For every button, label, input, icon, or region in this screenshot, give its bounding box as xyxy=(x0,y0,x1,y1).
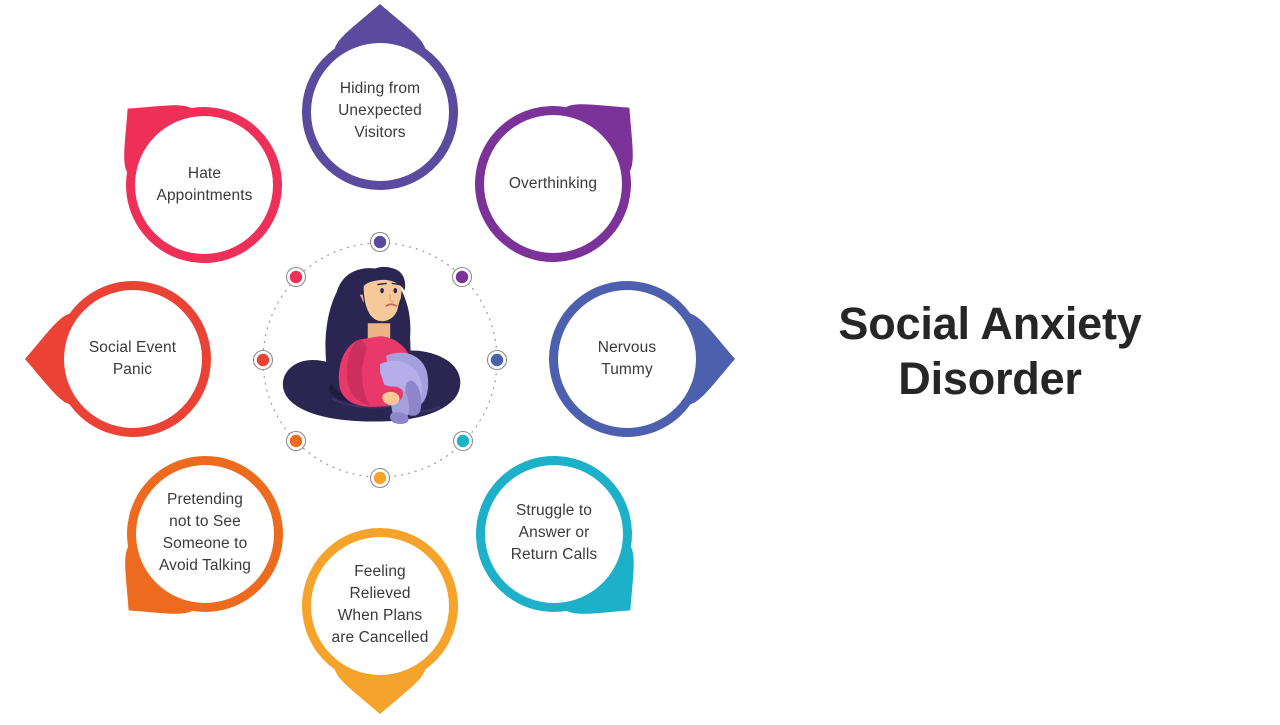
bubble-shape[interactable] xyxy=(443,52,685,294)
brow-left xyxy=(378,283,386,284)
dot-struggle-calls[interactable] xyxy=(454,432,473,451)
bubble-overthinking[interactable] xyxy=(443,52,685,294)
dot-hiding[interactable] xyxy=(371,233,390,252)
bubble-shape[interactable] xyxy=(73,424,315,666)
bubble-nervous-tummy[interactable] xyxy=(549,281,735,437)
diagram-svg xyxy=(0,0,760,720)
hub-dot-core[interactable] xyxy=(257,354,269,366)
dot-pretending[interactable] xyxy=(287,432,306,451)
bubble-shape[interactable] xyxy=(302,528,458,714)
social-anxiety-diagram: Hiding from Unexpected VisitorsOverthink… xyxy=(0,0,760,720)
slide-canvas: Hiding from Unexpected VisitorsOverthink… xyxy=(0,0,1280,720)
bubble-shape[interactable] xyxy=(72,53,314,295)
hub-dot-core[interactable] xyxy=(456,271,468,283)
anxious-woman-sitting-illustration xyxy=(283,267,460,424)
dot-nervous-tummy[interactable] xyxy=(488,351,507,370)
hub-dot-core[interactable] xyxy=(290,435,302,447)
hub-dot-core[interactable] xyxy=(374,472,386,484)
dot-overthinking[interactable] xyxy=(453,268,472,287)
hub-dot-core[interactable] xyxy=(374,236,386,248)
bubble-struggle-to-answer-or-return-calls[interactable] xyxy=(444,424,686,666)
page-title-line-1: Social Anxiety xyxy=(790,296,1190,351)
bubble-hate-appointments[interactable] xyxy=(72,53,314,295)
bubble-shape[interactable] xyxy=(444,424,686,666)
hub-dot-core[interactable] xyxy=(491,354,503,366)
dot-feeling-relieved[interactable] xyxy=(371,469,390,488)
eye-right xyxy=(393,288,397,293)
bubble-feeling-relieved-when-plans-are-cancelled[interactable] xyxy=(302,528,458,714)
hub-dot-core[interactable] xyxy=(457,435,469,447)
bubble-shape[interactable] xyxy=(302,4,458,190)
hub-dot-core[interactable] xyxy=(290,271,302,283)
bubble-shape[interactable] xyxy=(25,281,211,437)
page-title: Social Anxiety Disorder xyxy=(790,296,1190,406)
bubble-social-event-panic[interactable] xyxy=(25,281,211,437)
eye-left xyxy=(380,288,384,293)
page-title-line-2: Disorder xyxy=(790,351,1190,406)
bubble-shape[interactable] xyxy=(549,281,735,437)
bubble-hiding-from-unexpected-visitors[interactable] xyxy=(302,4,458,190)
dot-hate-appointments[interactable] xyxy=(287,268,306,287)
dot-social-event-panic[interactable] xyxy=(254,351,273,370)
bubble-pretending-not-to-see-someone-to-avoid-talking[interactable] xyxy=(73,424,315,666)
